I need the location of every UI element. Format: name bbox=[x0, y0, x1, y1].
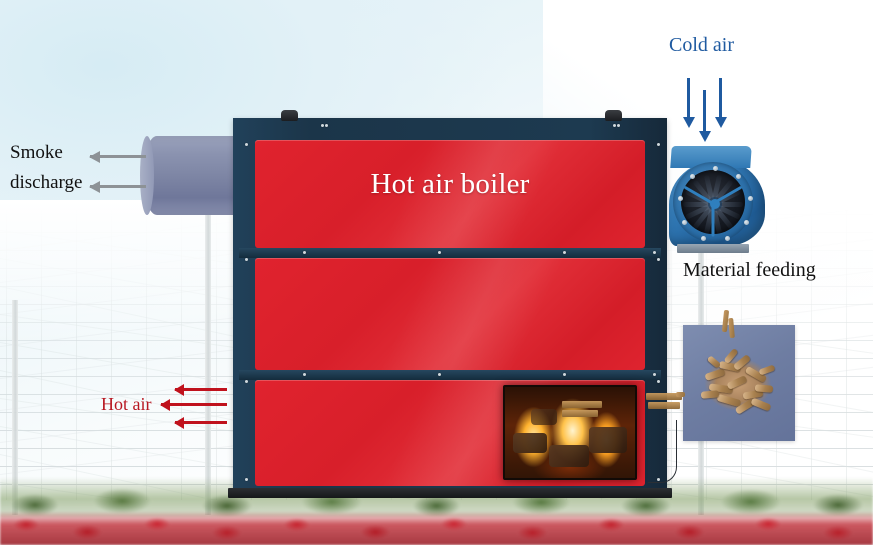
wood-pellet bbox=[704, 368, 725, 381]
hot-air-arrow bbox=[175, 388, 227, 391]
burning-log bbox=[589, 427, 627, 453]
hot-air-arrow bbox=[161, 403, 227, 406]
cold-air-arrow bbox=[703, 90, 706, 132]
frame-screw bbox=[617, 124, 620, 127]
frame-screw bbox=[245, 258, 248, 261]
frame-screw bbox=[563, 251, 566, 254]
material-feeding-label: Material feeding bbox=[683, 259, 816, 282]
inset-caption-tag bbox=[648, 402, 680, 409]
fan-guard-spoke bbox=[712, 204, 715, 237]
wood-pellet bbox=[750, 398, 771, 412]
frame-screw bbox=[657, 143, 660, 146]
housing-bolt bbox=[713, 166, 718, 171]
frame-screw bbox=[657, 380, 660, 383]
smoke-discharge-label-line2: discharge bbox=[10, 172, 82, 194]
inset-caption-tag bbox=[562, 410, 598, 417]
housing-bolt bbox=[701, 236, 706, 241]
smoke-discharge-label-line1: Smoke bbox=[10, 142, 63, 164]
boiler-base-plinth bbox=[228, 488, 672, 498]
cold-air-arrow bbox=[719, 78, 722, 118]
burning-log bbox=[513, 433, 547, 453]
frame-screw bbox=[245, 380, 248, 383]
wood-pellet bbox=[717, 394, 742, 407]
boiler-title: Hot air boiler bbox=[233, 168, 667, 201]
frame-screw bbox=[245, 478, 248, 481]
cold-air-arrow bbox=[687, 78, 690, 118]
wood-pellet-pile bbox=[699, 351, 777, 415]
frame-screw bbox=[653, 251, 656, 254]
frame-screw bbox=[438, 251, 441, 254]
frame-screw bbox=[321, 124, 324, 127]
red-flower-bed bbox=[0, 511, 873, 545]
burning-log bbox=[531, 409, 557, 425]
fan-mounting-foot bbox=[677, 244, 749, 253]
frame-screw bbox=[303, 373, 306, 376]
combustion-chamber-view bbox=[503, 385, 637, 480]
hot-air-arrow bbox=[175, 421, 227, 424]
housing-bolt bbox=[682, 220, 687, 225]
frame-screw bbox=[563, 373, 566, 376]
frame-screw bbox=[653, 373, 656, 376]
falling-pellet bbox=[676, 392, 685, 397]
centrifugal-blower-fan bbox=[663, 140, 773, 252]
frame-screw bbox=[657, 258, 660, 261]
hot-air-label: Hot air bbox=[101, 394, 151, 415]
greenhouse-post bbox=[205, 215, 211, 515]
lifting-lug bbox=[281, 110, 298, 121]
housing-bolt bbox=[678, 196, 683, 201]
wood-pellet bbox=[707, 355, 722, 369]
frame-screw bbox=[325, 124, 328, 127]
wood-pellet bbox=[758, 364, 775, 375]
power-cable bbox=[648, 420, 677, 483]
frame-screw bbox=[245, 143, 248, 146]
frame-screw bbox=[438, 373, 441, 376]
fan-side-plate bbox=[673, 162, 753, 242]
inset-caption-tag bbox=[562, 401, 602, 408]
smoke-arrow bbox=[90, 155, 146, 158]
smoke-arrow bbox=[90, 185, 146, 188]
frame-screw bbox=[303, 251, 306, 254]
frame-screw bbox=[613, 124, 616, 127]
wood-pellet bbox=[726, 375, 747, 390]
scene-container: Hot air boiler Smoke discharge Cold air bbox=[0, 0, 873, 545]
wood-pellet bbox=[755, 384, 774, 393]
wood-pellet-fuel-panel bbox=[683, 325, 795, 441]
cold-air-label: Cold air bbox=[669, 34, 734, 57]
burning-log bbox=[549, 445, 589, 467]
lifting-lug bbox=[605, 110, 622, 121]
boiler-panel-middle bbox=[255, 258, 645, 370]
